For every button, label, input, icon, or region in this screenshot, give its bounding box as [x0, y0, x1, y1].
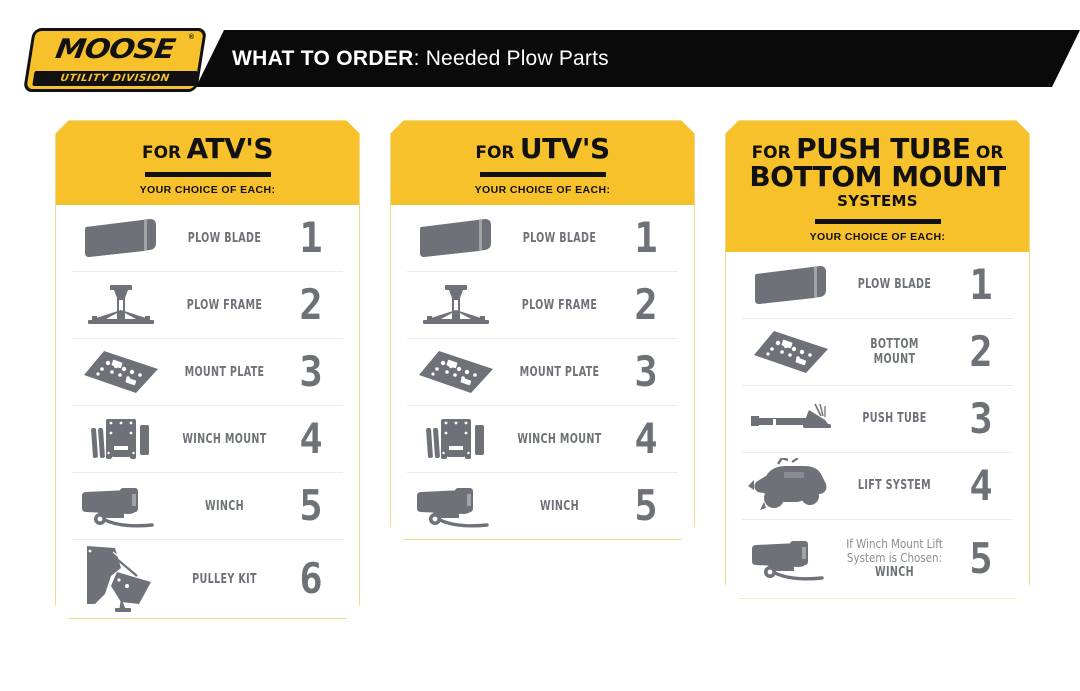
- card-rows-push-tube: PLOW BLADE1 BOTTOM MOUNT2 PUSH TUBE3: [726, 252, 1029, 598]
- card-title-for: FOR: [475, 143, 514, 163]
- header-banner: WHAT TO ORDER: Needed Plow Parts: [196, 30, 1080, 87]
- part-row[interactable]: WINCH MOUNT4: [407, 405, 678, 472]
- row-label-text: LIFT SYSTEM: [850, 478, 939, 493]
- part-row[interactable]: PLOW FRAME2: [72, 271, 343, 338]
- part-row[interactable]: PLOW BLADE1: [72, 205, 343, 271]
- card-atv: FOR ATV'SYOUR CHOICE OF EACH: PLOW BLADE…: [55, 120, 360, 619]
- row-number: 2: [282, 284, 341, 326]
- lift-system-icon: [742, 458, 840, 514]
- row-label-text: PUSH TUBE: [850, 411, 939, 426]
- page-title-strong: WHAT TO ORDER: [232, 47, 414, 70]
- row-label: WINCH: [180, 499, 269, 514]
- row-label-text: BOTTOM MOUNT: [850, 337, 939, 367]
- part-row[interactable]: WINCH MOUNT4: [72, 405, 343, 472]
- part-row[interactable]: MOUNT PLATE3: [72, 338, 343, 405]
- card-header-push-tube: FOR PUSH TUBE ORBOTTOM MOUNTSYSTEMSYOUR …: [726, 121, 1029, 252]
- part-row[interactable]: WINCH5: [72, 472, 343, 539]
- card-choice-label: YOUR CHOICE OF EACH:: [56, 184, 359, 205]
- row-label: LIFT SYSTEM: [850, 478, 939, 493]
- card-title-line1: FOR UTV'S: [391, 135, 694, 163]
- plow-frame-icon: [72, 282, 170, 328]
- bottom-mount-icon: [742, 329, 840, 375]
- card-title-main: ATV'S: [187, 132, 274, 165]
- part-row[interactable]: If Winch Mount Lift System is Chosen:WIN…: [742, 519, 1013, 598]
- row-label-text: MOUNT PLATE: [180, 365, 269, 380]
- part-row[interactable]: LIFT SYSTEM4: [742, 452, 1013, 519]
- row-number: 3: [282, 351, 341, 393]
- mount-plate-icon: [72, 349, 170, 395]
- row-label: PLOW FRAME: [180, 298, 269, 313]
- row-label: PLOW BLADE: [180, 231, 269, 246]
- mount-plate-icon: [407, 349, 505, 395]
- part-row[interactable]: MOUNT PLATE3: [407, 338, 678, 405]
- row-label: PUSH TUBE: [850, 411, 939, 426]
- row-label-text: MOUNT PLATE: [515, 365, 604, 380]
- card-title-rule: [480, 172, 606, 177]
- row-number: 3: [617, 351, 676, 393]
- plow-blade-icon: [72, 217, 170, 259]
- row-label: PLOW FRAME: [515, 298, 604, 313]
- row-label: BOTTOM MOUNT: [850, 337, 939, 367]
- part-row[interactable]: PUSH TUBE3: [742, 385, 1013, 452]
- card-title-rule: [145, 172, 271, 177]
- row-number: 3: [952, 398, 1011, 440]
- row-number: 5: [282, 485, 341, 527]
- card-choice-label: YOUR CHOICE OF EACH:: [391, 184, 694, 205]
- page-title: WHAT TO ORDER: Needed Plow Parts: [232, 30, 609, 87]
- row-label: MOUNT PLATE: [180, 365, 269, 380]
- row-label-text: PLOW BLADE: [180, 231, 269, 246]
- row-number: 5: [952, 538, 1011, 580]
- row-number: 4: [617, 418, 676, 460]
- row-number: 5: [617, 485, 676, 527]
- page-title-light: : Needed Plow Parts: [414, 47, 609, 70]
- part-row[interactable]: PULLEY KIT6: [72, 539, 343, 618]
- plow-blade-icon: [407, 217, 505, 259]
- plow-blade-icon: [742, 264, 840, 306]
- row-label-text: WINCH MOUNT: [515, 432, 604, 447]
- row-number: 1: [952, 264, 1011, 306]
- row-label-text: PULLEY KIT: [180, 572, 269, 587]
- row-label-text: PLOW BLADE: [850, 277, 939, 292]
- part-row[interactable]: PLOW BLADE1: [407, 205, 678, 271]
- part-row[interactable]: WINCH5: [407, 472, 678, 539]
- row-label-text: WINCH: [515, 499, 604, 514]
- part-row[interactable]: PLOW BLADE1: [742, 252, 1013, 318]
- row-note: If Winch Mount Lift System is Chosen:: [844, 537, 944, 566]
- row-number: 2: [617, 284, 676, 326]
- row-label-text: WINCH: [180, 499, 269, 514]
- winch-icon: [407, 484, 505, 528]
- row-label: WINCH MOUNT: [515, 432, 604, 447]
- part-row[interactable]: BOTTOM MOUNT2: [742, 318, 1013, 385]
- card-title-rule: [815, 219, 941, 224]
- card-title-main: UTV'S: [520, 132, 610, 165]
- card-title-for: FOR: [142, 143, 181, 163]
- row-label-text: PLOW FRAME: [515, 298, 604, 313]
- row-label: If Winch Mount Lift System is Chosen:WIN…: [850, 537, 939, 581]
- row-label-text: PLOW FRAME: [180, 298, 269, 313]
- row-number: 6: [282, 558, 341, 600]
- row-label-text: WINCH MOUNT: [180, 432, 269, 447]
- row-label: PLOW BLADE: [850, 277, 939, 292]
- row-label: PULLEY KIT: [180, 572, 269, 587]
- plow-frame-icon: [407, 282, 505, 328]
- card-push-tube: FOR PUSH TUBE ORBOTTOM MOUNTSYSTEMSYOUR …: [725, 120, 1030, 599]
- card-header-atv: FOR ATV'SYOUR CHOICE OF EACH:: [56, 121, 359, 205]
- row-label: WINCH: [515, 499, 604, 514]
- moose-utility-division-logo: MOOSE ® UTILITY DIVISION: [23, 28, 207, 92]
- row-label: WINCH MOUNT: [180, 432, 269, 447]
- row-label: MOUNT PLATE: [515, 365, 604, 380]
- page-header: MOOSE ® UTILITY DIVISION WHAT TO ORDER: …: [0, 0, 1080, 96]
- row-label-text: PLOW BLADE: [515, 231, 604, 246]
- winch-mount-icon: [407, 415, 505, 463]
- winch-icon: [72, 484, 170, 528]
- row-number: 1: [282, 217, 341, 259]
- row-label: PLOW BLADE: [515, 231, 604, 246]
- winch-mount-icon: [72, 415, 170, 463]
- pulley-kit-icon: [72, 542, 170, 616]
- card-title-line1: FOR ATV'S: [56, 135, 359, 163]
- card-title-line2: BOTTOM MOUNT: [726, 163, 1029, 192]
- logo-wordmark: MOOSE: [18, 34, 211, 65]
- winch-icon: [742, 537, 840, 581]
- card-utv: FOR UTV'SYOUR CHOICE OF EACH: PLOW BLADE…: [390, 120, 695, 540]
- card-choice-label: YOUR CHOICE OF EACH:: [726, 231, 1029, 252]
- card-title-line3: SYSTEMS: [726, 192, 1029, 210]
- card-header-utv: FOR UTV'SYOUR CHOICE OF EACH:: [391, 121, 694, 205]
- push-tube-icon: [742, 402, 840, 436]
- card-title-line1: FOR PUSH TUBE OR: [726, 135, 1029, 163]
- row-number: 4: [952, 465, 1011, 507]
- row-label-text: WINCH: [850, 565, 939, 580]
- row-number: 1: [617, 217, 676, 259]
- row-number: 4: [282, 418, 341, 460]
- part-row[interactable]: PLOW FRAME2: [407, 271, 678, 338]
- logo-subtitle: UTILITY DIVISION: [32, 71, 198, 86]
- registered-trademark-icon: ®: [189, 34, 194, 41]
- card-rows-atv: PLOW BLADE1 PLOW FRAME2 MOUNT PLATE3: [56, 205, 359, 618]
- row-number: 2: [952, 331, 1011, 373]
- card-rows-utv: PLOW BLADE1 PLOW FRAME2 MOUNT PLATE3: [391, 205, 694, 539]
